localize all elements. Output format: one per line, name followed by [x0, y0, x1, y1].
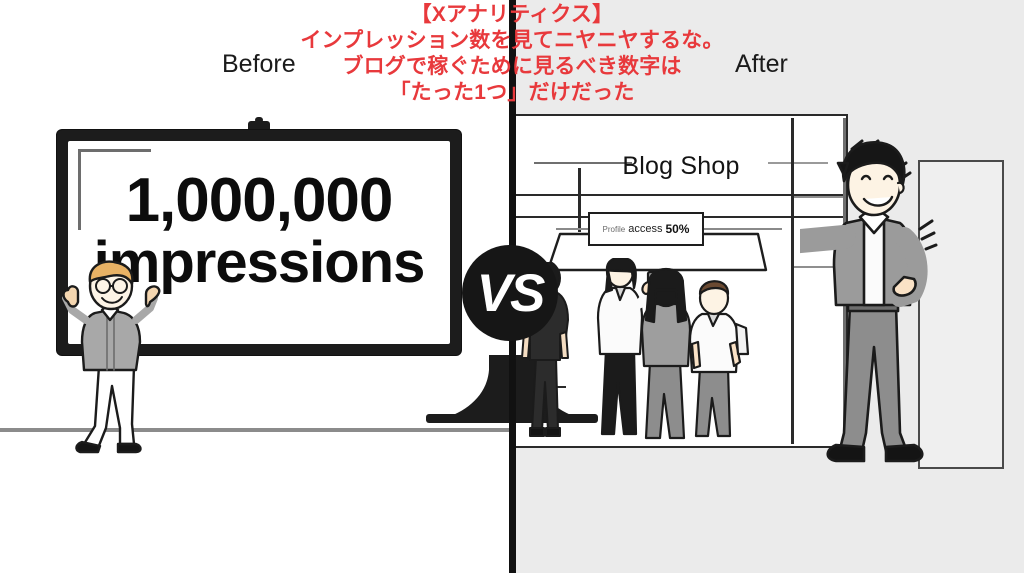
shop-customers-group — [592, 258, 758, 446]
pointing-man-illustration — [800, 133, 960, 475]
banner-value: 50% — [665, 222, 689, 236]
after-label: After — [735, 50, 788, 79]
banner-label: access — [628, 223, 662, 235]
customer-man-with-bag — [690, 281, 748, 436]
banner-prefix: Profile — [603, 225, 626, 234]
before-label: Before — [222, 50, 296, 79]
storefront-sign-text: Blog Shop — [516, 152, 846, 181]
screenshot-canvas: 1,000,000 impressions — [0, 0, 1024, 573]
profile-access-banner: Profile access 50% — [588, 212, 704, 246]
vs-badge: VS — [462, 245, 558, 341]
excited-man-illustration — [62, 258, 180, 458]
vs-badge-label: VS — [477, 267, 544, 320]
customer-back-view — [642, 269, 690, 438]
impressions-count: 1,000,000 — [68, 169, 450, 233]
storefront-top-band — [516, 116, 846, 146]
